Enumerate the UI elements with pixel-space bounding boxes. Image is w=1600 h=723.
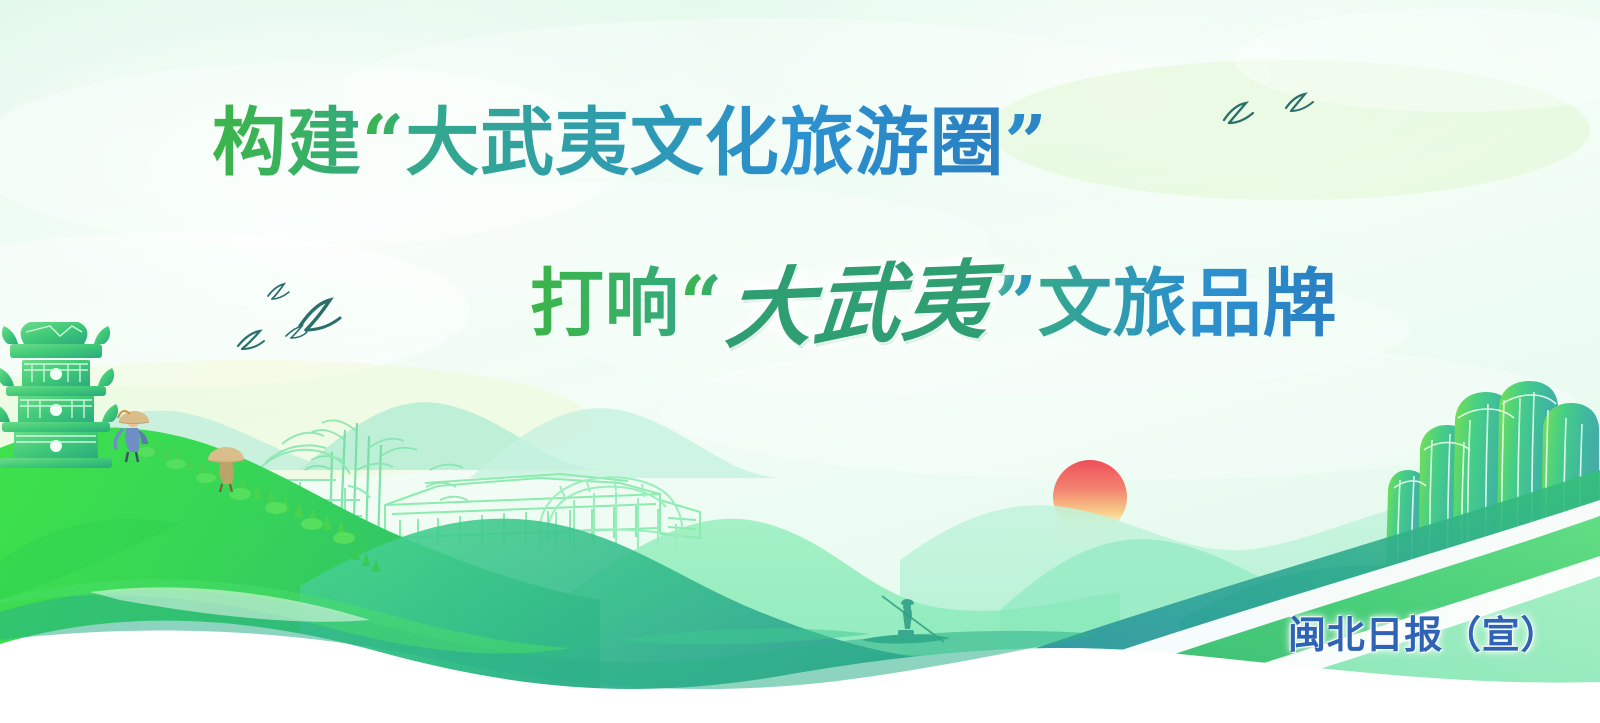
background-cloud-shapes: [0, 8, 1600, 480]
publisher-credit: 闽北日报（宣）: [1288, 604, 1559, 659]
promotional-banner: 构建“大武夷文化旅游圈” 打响“大武夷”文旅品牌 闽北日报（宣）: [0, 0, 1600, 723]
